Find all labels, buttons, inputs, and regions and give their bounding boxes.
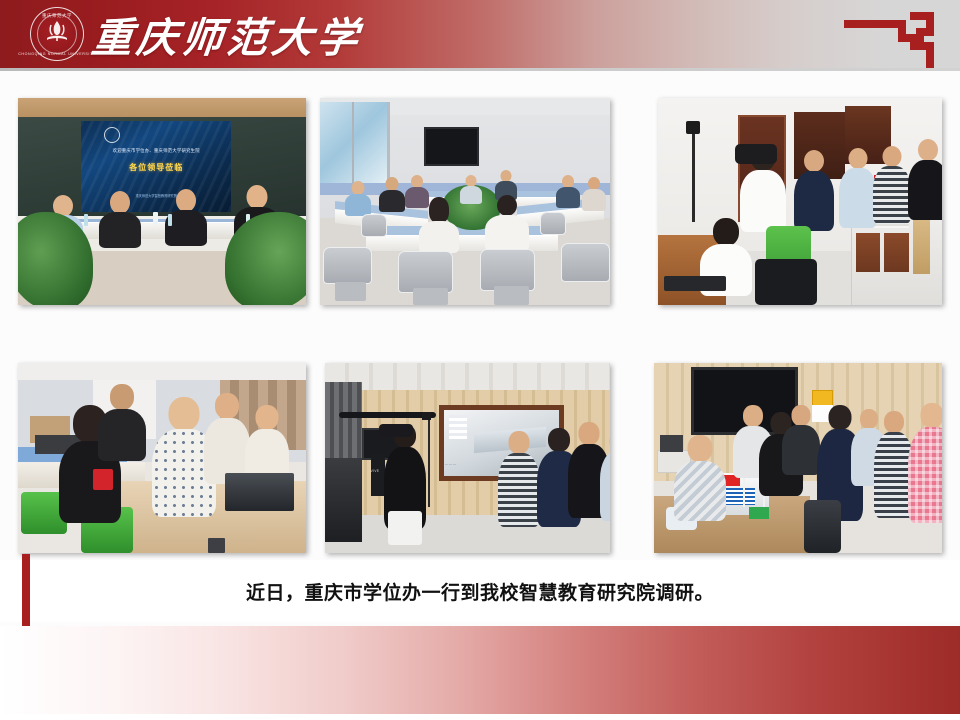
presentation-slide: 重庆师范大学 CHONGQING NORMAL UNIVERSITY 重庆师范大… <box>0 0 960 720</box>
tripod-camera-icon <box>686 121 700 134</box>
header-divider <box>0 68 960 71</box>
person <box>96 384 148 475</box>
person <box>695 218 757 305</box>
page-footer <box>0 626 960 720</box>
person <box>416 197 462 259</box>
photo-vr-projection-demo[interactable]: — — — VIVE <box>325 363 610 553</box>
emblem-arc-top-text: 重庆师范大学 <box>42 13 72 19</box>
emblem-arc-bottom-text: CHONGQING NORMAL UNIVERSITY <box>18 52 96 56</box>
photo-meeting-welcome-screen[interactable]: 欢迎重庆市学位办、重庆师范大学研究生院 各位领导莅临 重庆师范大学智慧教育研究院 <box>18 98 306 305</box>
screen-welcome-line2: 各位领导莅临 <box>87 162 225 173</box>
person <box>496 431 542 553</box>
photo-lab-tour-devices[interactable] <box>18 363 306 553</box>
person <box>578 177 610 218</box>
person <box>96 191 145 257</box>
university-name-title: 重庆师范大学 <box>89 3 366 65</box>
person <box>907 403 942 553</box>
screen-welcome-line1: 欢迎重庆市学位办、重庆师范大学研究生院 <box>87 148 225 154</box>
photo-vr-headset-demonstration[interactable] <box>658 98 942 305</box>
person <box>668 435 731 541</box>
caption-area: 近日，重庆市学位办一行到我校智慧教育研究院调研。 <box>0 560 960 622</box>
chinese-fret-corner-ornament-top-right <box>844 8 942 68</box>
slide-caption: 近日，重庆市学位办一行到我校智慧教育研究院调研。 <box>0 578 960 605</box>
vr-headset-icon <box>379 424 413 437</box>
university-emblem-icon: 重庆师范大学 CHONGQING NORMAL UNIVERSITY <box>22 5 84 63</box>
person <box>905 139 942 251</box>
page-header: 重庆师范大学 CHONGQING NORMAL UNIVERSITY 重庆师范大… <box>0 0 960 68</box>
footer-base <box>0 714 960 720</box>
vr-headset-icon <box>735 144 778 165</box>
keyboard <box>664 276 726 290</box>
photo-grid: 欢迎重庆市学位办、重庆师范大学研究生院 各位领导莅临 重庆师范大学智慧教育研究院 <box>0 78 960 560</box>
wall-television <box>424 127 479 166</box>
photo-conference-room-u-shape[interactable] <box>320 98 610 305</box>
emblem-motif-icon <box>44 19 70 45</box>
photo-stem-model-demo[interactable] <box>654 363 942 553</box>
person <box>599 431 610 545</box>
